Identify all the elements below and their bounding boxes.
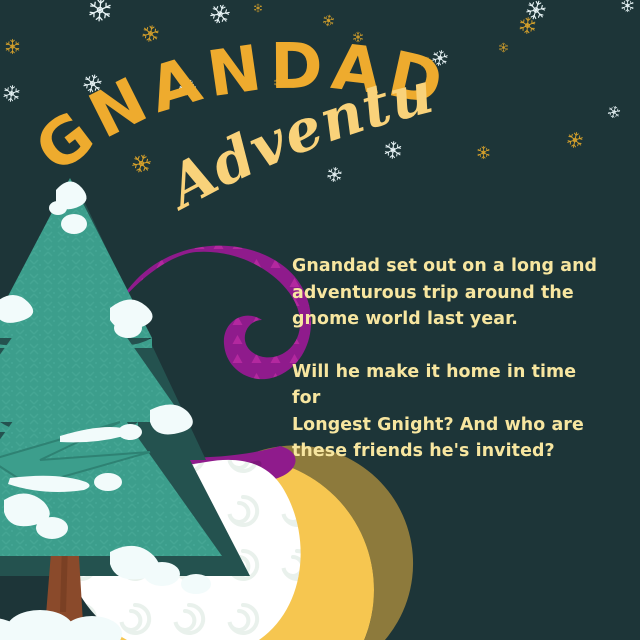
title-block: GNANDAD'S Adventure (0, 0, 640, 230)
paragraph-1: Gnandad set out on a long and adventurou… (292, 253, 602, 333)
body-copy: Gnandad set out on a long and adventurou… (292, 253, 602, 465)
paragraph-2: Will he make it home in time for Longest… (292, 359, 602, 465)
poster-canvas: GNANDAD'S Adventure Gnandad set out on a… (0, 0, 640, 640)
